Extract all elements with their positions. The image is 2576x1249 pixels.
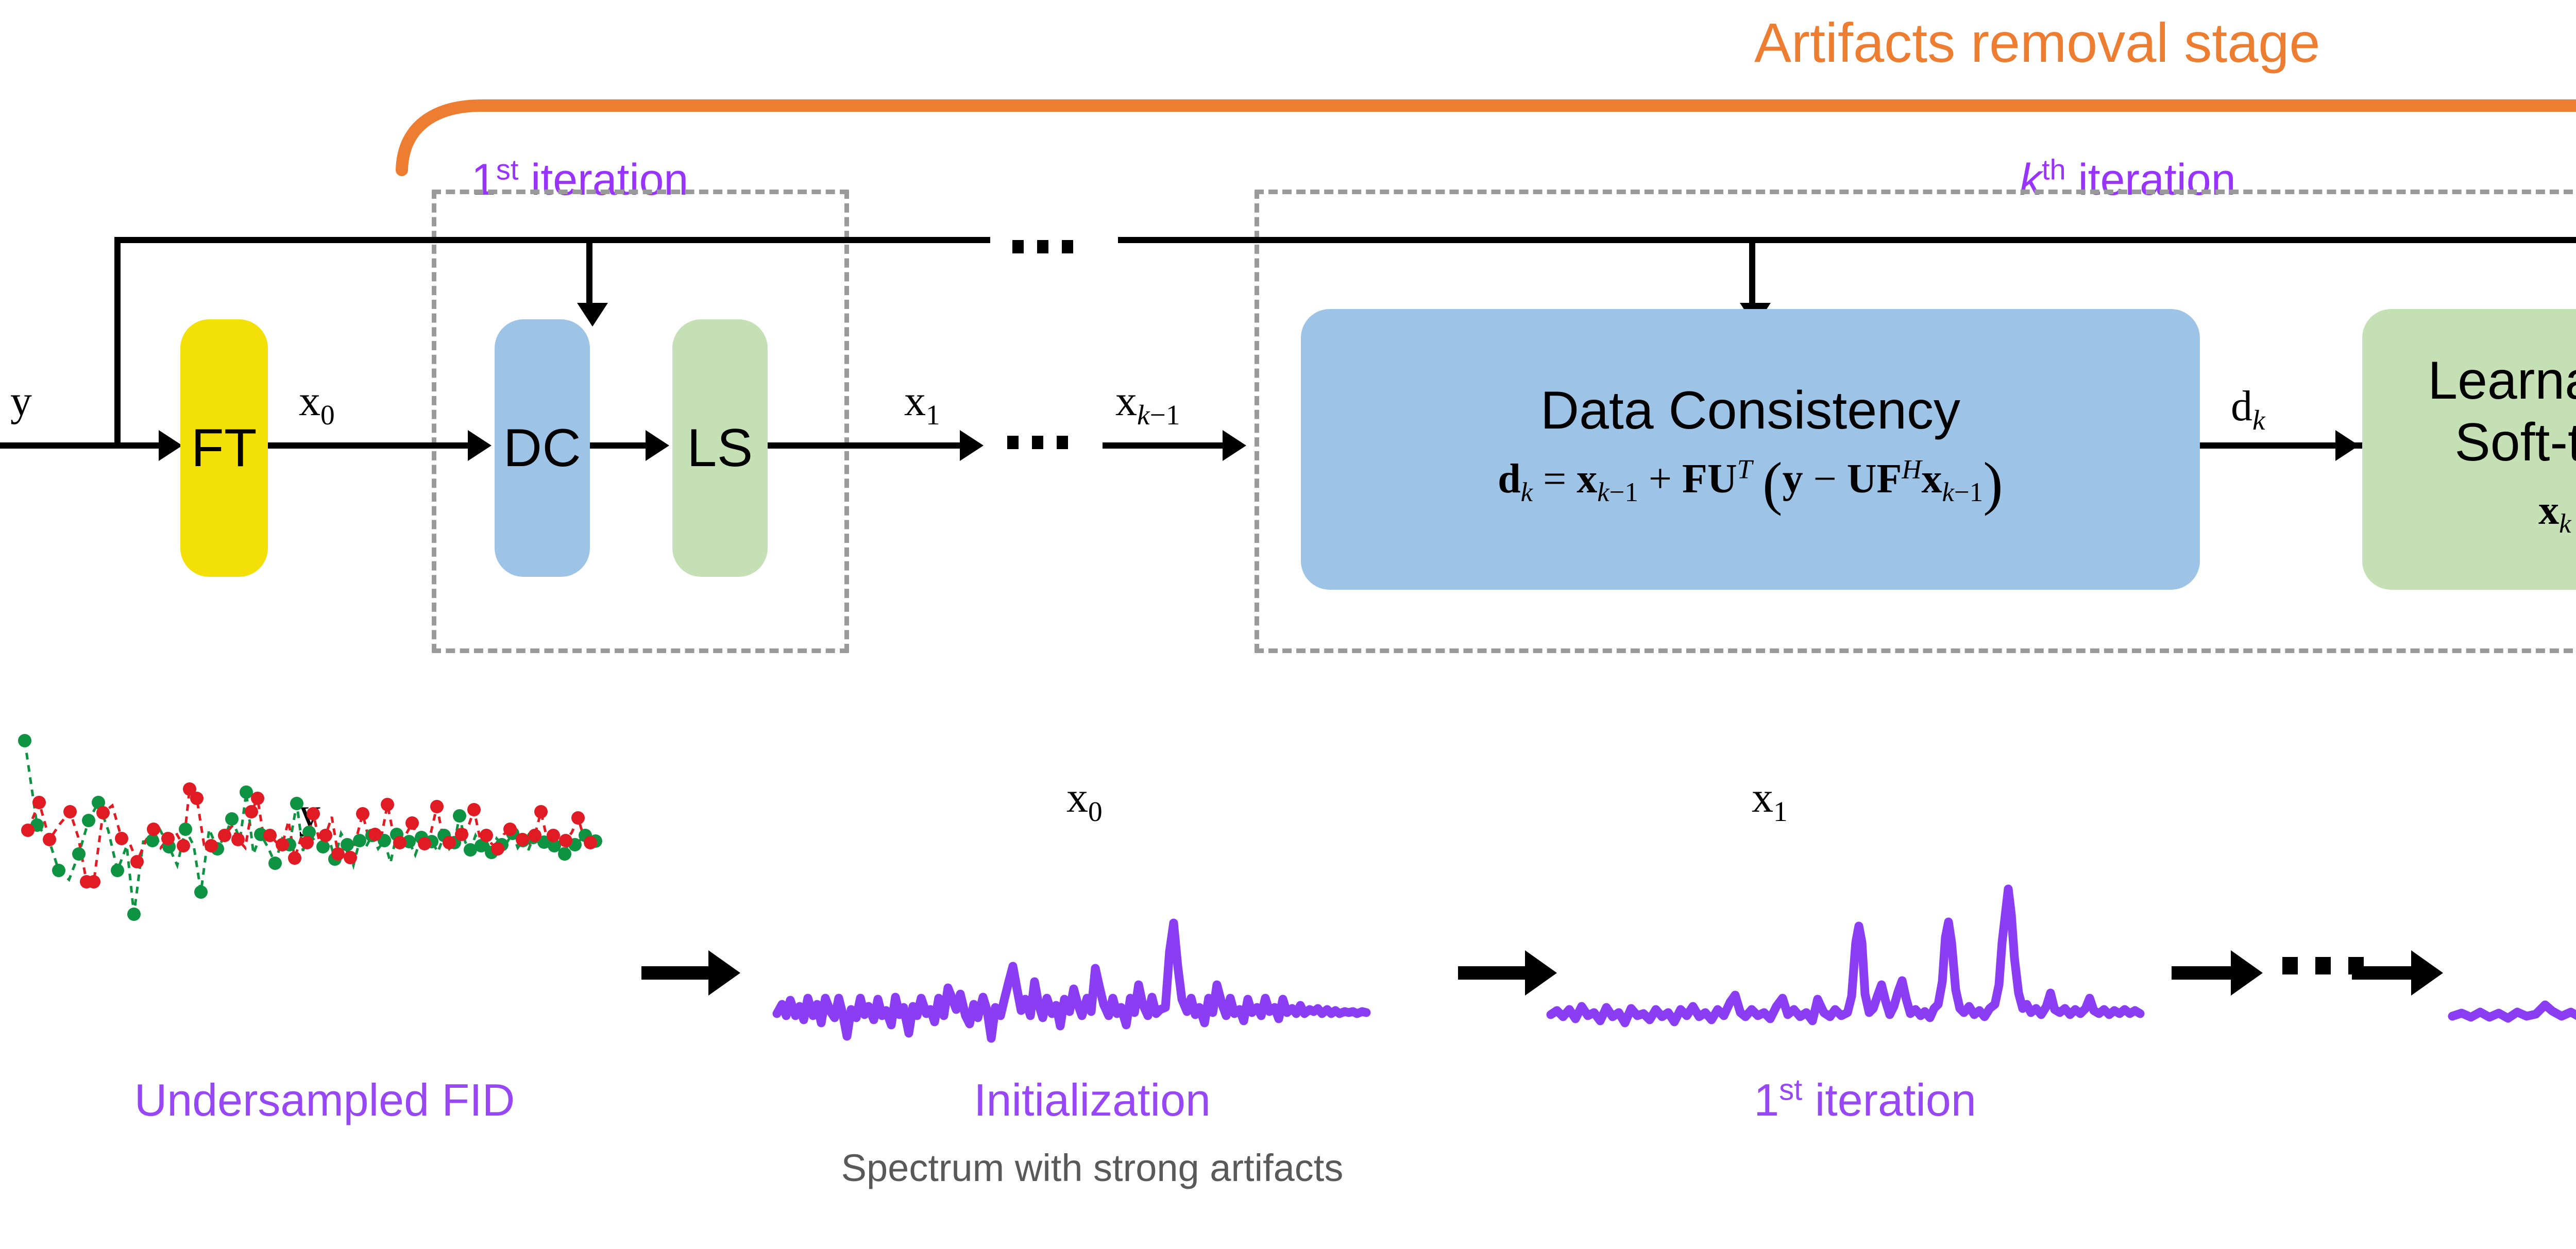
ft-block[interactable]: FT xyxy=(180,319,268,577)
artifacts-stage-bracket xyxy=(392,95,2576,173)
data-consistency-equation: dk = xk−1 + FUT (y − UFHxk−1) xyxy=(1498,450,2003,518)
feedback-drop-1 xyxy=(586,237,592,304)
arrow-init-to-iter1 xyxy=(1458,950,1557,996)
arrow-ellipsis-to-iterk xyxy=(2352,950,2443,996)
caption-iteration-k: kth iteration xyxy=(2427,1074,2576,1126)
undersampled-fid-plot xyxy=(5,716,618,963)
arrow-iter1-to-ellipsis xyxy=(2172,950,2263,996)
feedback-bus-ellipsis-1 xyxy=(1012,240,1073,253)
spectrum-iter1-trace xyxy=(1551,889,2140,1023)
feedback-bus-segment-2 xyxy=(1118,237,2576,243)
path-ellipsis-1 xyxy=(1007,436,1068,449)
spectrum-iteration-k-plot xyxy=(2447,729,2576,1058)
label-x0: x0 xyxy=(299,376,335,426)
arrow-fid-to-init xyxy=(641,950,740,996)
dc-block-iteration-1[interactable]: DC xyxy=(495,319,590,577)
spectrum-iterk-trace xyxy=(2452,765,2576,1029)
label-init-symbol: x0 xyxy=(1066,773,1103,823)
spectrum-initialization-plot xyxy=(773,834,1417,1056)
soft-thresholding-title-line1: Learnable Adaptive xyxy=(2428,351,2576,410)
arrow-to-dc-k xyxy=(1223,430,1246,461)
label-xk-minus-1: xk−1 xyxy=(1115,376,1180,426)
caption-undersampled-fid: Undersampled FID xyxy=(0,1074,649,1126)
label-y: y xyxy=(10,376,32,426)
line-ft-to-dc1 xyxy=(268,442,469,449)
ls-block-label: LS xyxy=(687,418,753,479)
dc-block-label: DC xyxy=(503,418,581,479)
ls-block-iteration-1[interactable]: LS xyxy=(672,319,768,577)
caption-initialization: Initialization xyxy=(732,1074,1453,1126)
arrow-dck-to-lsk xyxy=(2335,430,2359,461)
feedback-bus-segment-1 xyxy=(114,237,990,243)
feedback-riser-left xyxy=(114,237,121,443)
data-consistency-title: Data Consistency xyxy=(1540,381,1960,440)
line-to-dc-k xyxy=(1103,442,1224,449)
arrow-dc1-to-ls1 xyxy=(646,430,669,461)
data-consistency-block[interactable]: Data Consistency dk = xk−1 + FUT (y − UF… xyxy=(1301,309,2200,590)
page-title: Artifacts removal stage xyxy=(1754,10,2320,75)
soft-thresholding-block[interactable]: Learnable Adaptive Soft-thresholding xk … xyxy=(2362,309,2576,590)
line-dc1-to-ls1 xyxy=(590,442,647,449)
soft-thresholding-equation: xk = LS(dk,θk) xyxy=(2538,482,2576,548)
soft-thresholding-title-line2: Soft-thresholding xyxy=(2454,413,2576,472)
subcaption-spectrum-artifacts: Spectrum with strong artifacts xyxy=(711,1146,1473,1190)
input-line-y xyxy=(0,442,160,449)
spectrum-iteration-1-plot xyxy=(1546,788,2179,1056)
diagram-canvas: Artifacts removal stage 1st iteration kt… xyxy=(0,0,2576,1249)
ft-block-label: FT xyxy=(191,418,257,479)
caption-iteration-1: 1st iteration xyxy=(1525,1074,2205,1126)
line-ls1-out xyxy=(768,442,961,449)
label-dk: dk xyxy=(2231,381,2265,431)
spectrum-init-trace xyxy=(777,923,1366,1038)
arrow-ls1-out xyxy=(960,430,984,461)
feedback-drop-k xyxy=(1749,237,1755,304)
feedback-drop-1-arrowhead xyxy=(577,303,608,327)
arrow-ft-to-dc1 xyxy=(468,430,492,461)
input-arrowhead xyxy=(159,430,182,461)
label-x1: x1 xyxy=(904,376,940,426)
